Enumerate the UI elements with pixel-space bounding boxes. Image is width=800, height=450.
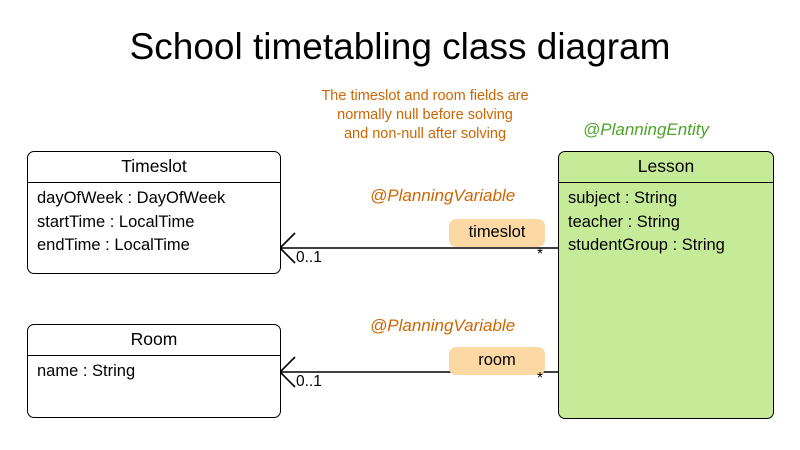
class-fields-lesson: subject : String teacher : String studen… xyxy=(559,183,773,258)
class-name-lesson: Lesson xyxy=(559,152,773,183)
note-line-1: The timeslot and room fields are xyxy=(285,87,565,106)
stereotype-planning-entity: @PlanningEntity xyxy=(583,120,709,140)
class-box-room[interactable]: Room name : String xyxy=(27,324,281,418)
class-name-timeslot: Timeslot xyxy=(28,152,280,183)
class-field: studentGroup : String xyxy=(568,234,773,258)
class-box-timeslot[interactable]: Timeslot dayOfWeek : DayOfWeek startTime… xyxy=(27,151,281,274)
note-annotation: The timeslot and room fields are normall… xyxy=(285,87,565,144)
class-field: startTime : LocalTime xyxy=(37,211,280,235)
multiplicity-room-source: * xyxy=(537,370,543,388)
page-title: School timetabling class diagram xyxy=(0,26,800,68)
class-fields-room: name : String xyxy=(28,356,280,384)
stereotype-planning-variable-room: @PlanningVariable xyxy=(370,316,515,336)
multiplicity-timeslot-target: 0..1 xyxy=(296,249,322,267)
field-badge-room[interactable]: room xyxy=(449,347,545,375)
class-field: dayOfWeek : DayOfWeek xyxy=(37,187,280,211)
class-field: teacher : String xyxy=(568,211,773,235)
multiplicity-timeslot-source: * xyxy=(537,246,543,264)
class-fields-timeslot: dayOfWeek : DayOfWeek startTime : LocalT… xyxy=(28,183,280,258)
stereotype-planning-variable-timeslot: @PlanningVariable xyxy=(370,186,515,206)
class-name-room: Room xyxy=(28,325,280,356)
class-field: endTime : LocalTime xyxy=(37,234,280,258)
note-line-3: and non-null after solving xyxy=(285,125,565,144)
class-box-lesson[interactable]: Lesson subject : String teacher : String… xyxy=(558,151,774,419)
class-field: subject : String xyxy=(568,187,773,211)
class-field: name : String xyxy=(37,360,280,384)
class-diagram-canvas: School timetabling class diagram The tim… xyxy=(0,0,800,450)
field-badge-timeslot[interactable]: timeslot xyxy=(449,219,545,247)
multiplicity-room-target: 0..1 xyxy=(296,373,322,391)
note-line-2: normally null before solving xyxy=(285,106,565,125)
